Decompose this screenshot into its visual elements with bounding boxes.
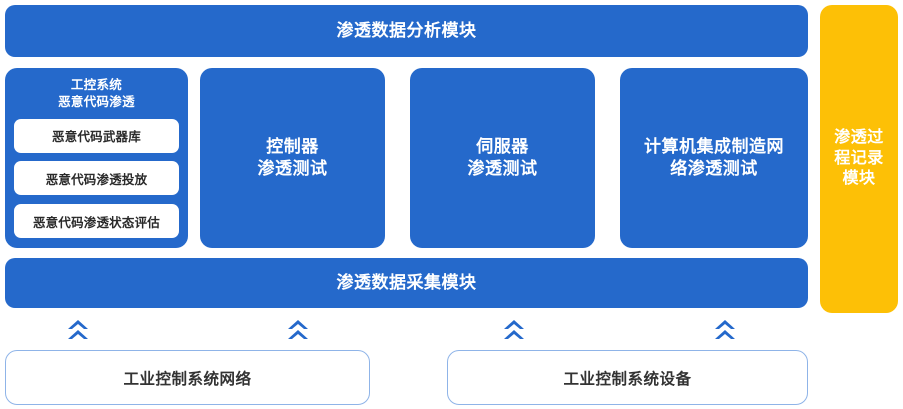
controller-pentest-label: 控制器 渗透测试	[258, 136, 328, 180]
collection-module-label: 渗透数据采集模块	[337, 272, 477, 294]
group-panel-items: 恶意代码武器库 恶意代码渗透投放 恶意代码渗透状态评估	[14, 119, 179, 238]
controller-pentest-card[interactable]: 控制器 渗透测试	[200, 68, 385, 248]
analysis-module-label: 渗透数据分析模块	[337, 20, 477, 42]
target-ics-network-box[interactable]: 工业控制系统网络	[5, 350, 370, 405]
servo-pentest-line2: 渗透测试	[468, 158, 538, 180]
double-chevron-up-icon-4	[714, 319, 736, 343]
cims-network-pentest-line2: 络渗透测试	[644, 158, 784, 180]
process-record-line2: 程记录	[834, 149, 884, 169]
double-chevron-up-icon-1	[67, 319, 89, 343]
double-chevron-up-icon-2	[287, 319, 309, 343]
target-ics-network-label: 工业控制系统网络	[123, 367, 251, 389]
group-panel-title-line2: 恶意代码渗透	[58, 94, 135, 111]
analysis-module-bar[interactable]: 渗透数据分析模块	[5, 5, 808, 57]
process-record-line3: 模块	[834, 169, 884, 189]
group-item-delivery[interactable]: 恶意代码渗透投放	[14, 161, 179, 195]
double-chevron-up-icon-3	[503, 319, 525, 343]
process-record-module-panel[interactable]: 渗透过 程记录 模块	[820, 5, 898, 313]
target-ics-equipment-label: 工业控制系统设备	[563, 367, 691, 389]
controller-pentest-line1: 控制器	[258, 136, 328, 158]
servo-pentest-card[interactable]: 伺服器 渗透测试	[410, 68, 595, 248]
group-panel-title: 工控系统 恶意代码渗透	[58, 77, 135, 111]
malicious-code-group-panel[interactable]: 工控系统 恶意代码渗透 恶意代码武器库 恶意代码渗透投放 恶意代码渗透状态评估	[5, 68, 188, 248]
architecture-diagram: 渗透数据分析模块 工控系统 恶意代码渗透 恶意代码武器库 恶意代码渗透投放 恶意…	[0, 0, 903, 409]
target-ics-equipment-box[interactable]: 工业控制系统设备	[447, 350, 808, 405]
collection-module-bar[interactable]: 渗透数据采集模块	[5, 258, 808, 308]
group-item-state-assessment[interactable]: 恶意代码渗透状态评估	[14, 204, 179, 238]
process-record-line1: 渗透过	[834, 128, 884, 148]
controller-pentest-line2: 渗透测试	[258, 158, 328, 180]
servo-pentest-line1: 伺服器	[468, 136, 538, 158]
servo-pentest-label: 伺服器 渗透测试	[468, 136, 538, 180]
group-item-weapon-library[interactable]: 恶意代码武器库	[14, 119, 179, 153]
cims-network-pentest-card[interactable]: 计算机集成制造网 络渗透测试	[620, 68, 808, 248]
group-panel-title-line1: 工控系统	[58, 77, 135, 94]
cims-network-pentest-line1: 计算机集成制造网	[644, 136, 784, 158]
process-record-module-label: 渗透过 程记录 模块	[834, 128, 884, 189]
cims-network-pentest-label: 计算机集成制造网 络渗透测试	[644, 136, 784, 180]
